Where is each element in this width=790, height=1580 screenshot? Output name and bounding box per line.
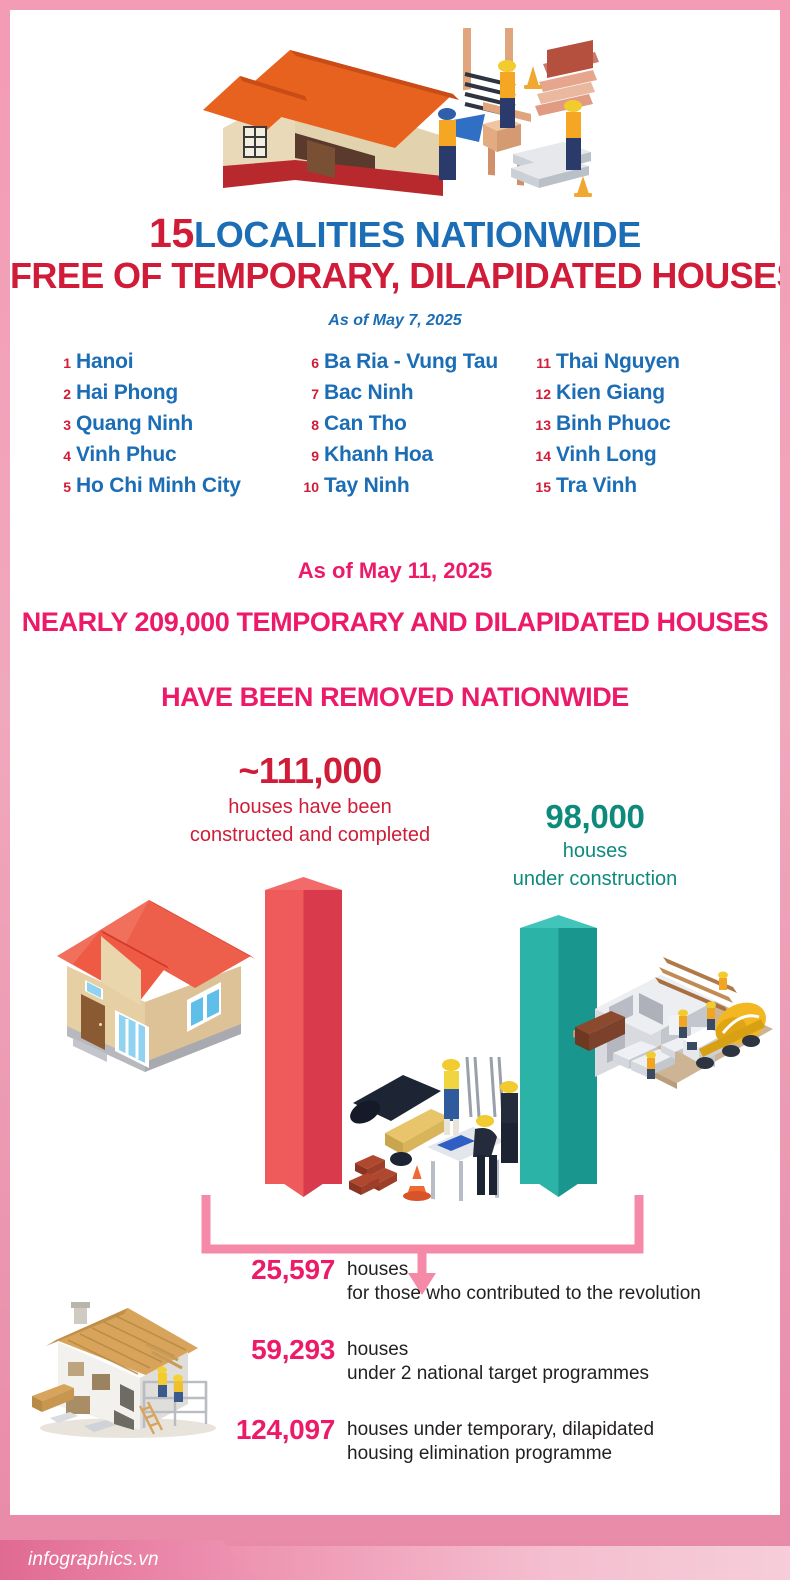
list-item-label: Thai Nguyen: [556, 350, 680, 374]
stat-value: 25,597: [195, 1255, 335, 1285]
localities-column-1: 1Hanoi 2Hai Phong 3Quang Ninh 4Vinh Phuc…: [50, 350, 298, 505]
list-item-number: 9: [298, 448, 319, 464]
page-title-line-2: FREE OF TEMPORARY, DILAPIDATED HOUSES: [10, 255, 780, 297]
stat-description: houses under 2 national target programme…: [347, 1335, 649, 1386]
list-item-label: Hai Phong: [76, 381, 178, 405]
stat-description-line2: under 2 national target programmes: [347, 1362, 649, 1386]
list-item: 12Kien Giang: [530, 381, 750, 412]
list-item: 6Ba Ria - Vung Tau: [298, 350, 530, 381]
header-illustration-house-and-workers: [195, 28, 615, 203]
bar-completed: [265, 877, 342, 1197]
list-item-label: Ho Chi Minh City: [76, 474, 241, 498]
list-item: 3Quang Ninh: [50, 412, 298, 443]
localities-list: 1Hanoi 2Hai Phong 3Quang Ninh 4Vinh Phuc…: [50, 350, 750, 505]
list-item-number: 8: [298, 417, 319, 433]
list-item-number: 13: [530, 417, 551, 433]
list-item-number: 2: [50, 386, 71, 402]
as-of-date-label: As of May 7, 2025: [10, 312, 780, 330]
list-item-label: Bac Ninh: [324, 381, 413, 405]
list-item-label: Vinh Long: [556, 443, 656, 467]
headline-date: As of May 11, 2025: [10, 558, 780, 584]
list-item-number: 7: [298, 386, 319, 402]
list-item: 1Hanoi: [50, 350, 298, 381]
list-item: 11Thai Nguyen: [530, 350, 750, 381]
list-item-number: 10: [298, 479, 319, 495]
headline-line-2: HAVE BEEN REMOVED NATIONWIDE: [10, 682, 780, 713]
bar-bottom-face: [265, 1171, 342, 1197]
stat-description-line2: housing elimination programme: [347, 1442, 654, 1466]
stat-description-line1: houses: [347, 1338, 649, 1362]
list-item-number: 6: [298, 355, 319, 371]
list-item-label: Hanoi: [76, 350, 133, 374]
list-item-label: Ba Ria - Vung Tau: [324, 350, 498, 374]
stat-description: houses for those who contributed to the …: [347, 1255, 701, 1306]
list-item-label: Vinh Phuc: [76, 443, 177, 467]
title-number: 15: [149, 210, 194, 256]
chart-caption-completed-line1: houses have been: [160, 795, 460, 820]
chart-value-under-construction: 98,000: [460, 798, 730, 836]
list-item: 2Hai Phong: [50, 381, 298, 412]
chart-caption-uc-line1: houses: [460, 839, 730, 864]
workers-illustration: [345, 1055, 560, 1205]
list-item-number: 11: [530, 355, 551, 371]
stat-value: 124,097: [185, 1415, 335, 1445]
list-item-label: Binh Phuoc: [556, 412, 671, 436]
chart-label-under-construction: 98,000 houses under construction: [460, 798, 730, 892]
list-item: 5Ho Chi Minh City: [50, 474, 298, 505]
list-item: 9Khanh Hoa: [298, 443, 530, 474]
list-item: 10Tay Ninh: [298, 474, 530, 505]
footer-site-label: infographics.vn: [28, 1549, 159, 1571]
list-item-number: 5: [50, 479, 71, 495]
list-item-label: Tay Ninh: [324, 474, 410, 498]
list-item: 14Vinh Long: [530, 443, 750, 474]
bar-chart: ~111,000 houses have been constructed an…: [10, 740, 780, 1250]
list-item: 13Binh Phuoc: [530, 412, 750, 443]
stat-row-elimination-programme: 124,097 houses under temporary, dilapida…: [185, 1415, 654, 1466]
list-item-label: Kien Giang: [556, 381, 665, 405]
localities-column-2: 6Ba Ria - Vung Tau 7Bac Ninh 8Can Tho 9K…: [298, 350, 530, 505]
construction-site-illustration: [565, 935, 780, 1090]
list-item-number: 12: [530, 386, 551, 402]
stat-value: 59,293: [195, 1335, 335, 1365]
list-item-label: Can Tho: [324, 412, 407, 436]
stat-description-line2: for those who contributed to the revolut…: [347, 1282, 701, 1306]
chart-label-completed: ~111,000 houses have been constructed an…: [160, 750, 460, 848]
list-item: 7Bac Ninh: [298, 381, 530, 412]
list-item-number: 14: [530, 448, 551, 464]
chart-caption-uc-line2: under construction: [460, 867, 730, 892]
list-item-label: Quang Ninh: [76, 412, 193, 436]
list-item-label: Khanh Hoa: [324, 443, 433, 467]
headline-line-1: NEARLY 209,000 TEMPORARY AND DILAPIDATED…: [10, 607, 780, 638]
list-item-number: 1: [50, 355, 71, 371]
list-item: 15Tra Vinh: [530, 474, 750, 505]
list-item: 8Can Tho: [298, 412, 530, 443]
stat-description-line1: houses under temporary, dilapidated: [347, 1418, 654, 1442]
chart-caption-completed-line2: constructed and completed: [160, 823, 460, 848]
title-rest: LOCALITIES NATIONWIDE: [194, 214, 641, 255]
stat-row-revolution: 25,597 houses for those who contributed …: [195, 1255, 701, 1306]
list-item-label: Tra Vinh: [556, 474, 637, 498]
list-item: 4Vinh Phuc: [50, 443, 298, 474]
list-item-number: 4: [50, 448, 71, 464]
page-title-line-1: 15LOCALITIES NATIONWIDE: [10, 210, 780, 257]
infographic-canvas: 15LOCALITIES NATIONWIDE FREE OF TEMPORAR…: [10, 10, 780, 1515]
footer-bar: infographics.vn: [0, 1515, 790, 1580]
list-item-number: 15: [530, 479, 551, 495]
list-item-number: 3: [50, 417, 71, 433]
chart-value-completed: ~111,000: [160, 750, 460, 792]
stat-description-line1: houses: [347, 1258, 701, 1282]
renovation-house-illustration: [28, 1278, 223, 1438]
localities-column-3: 11Thai Nguyen 12Kien Giang 13Binh Phuoc …: [530, 350, 750, 505]
stat-row-national-programmes: 59,293 houses under 2 national target pr…: [195, 1335, 649, 1386]
completed-house-illustration: [45, 870, 260, 1095]
footer-site-tab: infographics.vn: [0, 1540, 260, 1580]
stat-description: houses under temporary, dilapidated hous…: [347, 1415, 654, 1466]
bar-front-face: [265, 890, 342, 1184]
